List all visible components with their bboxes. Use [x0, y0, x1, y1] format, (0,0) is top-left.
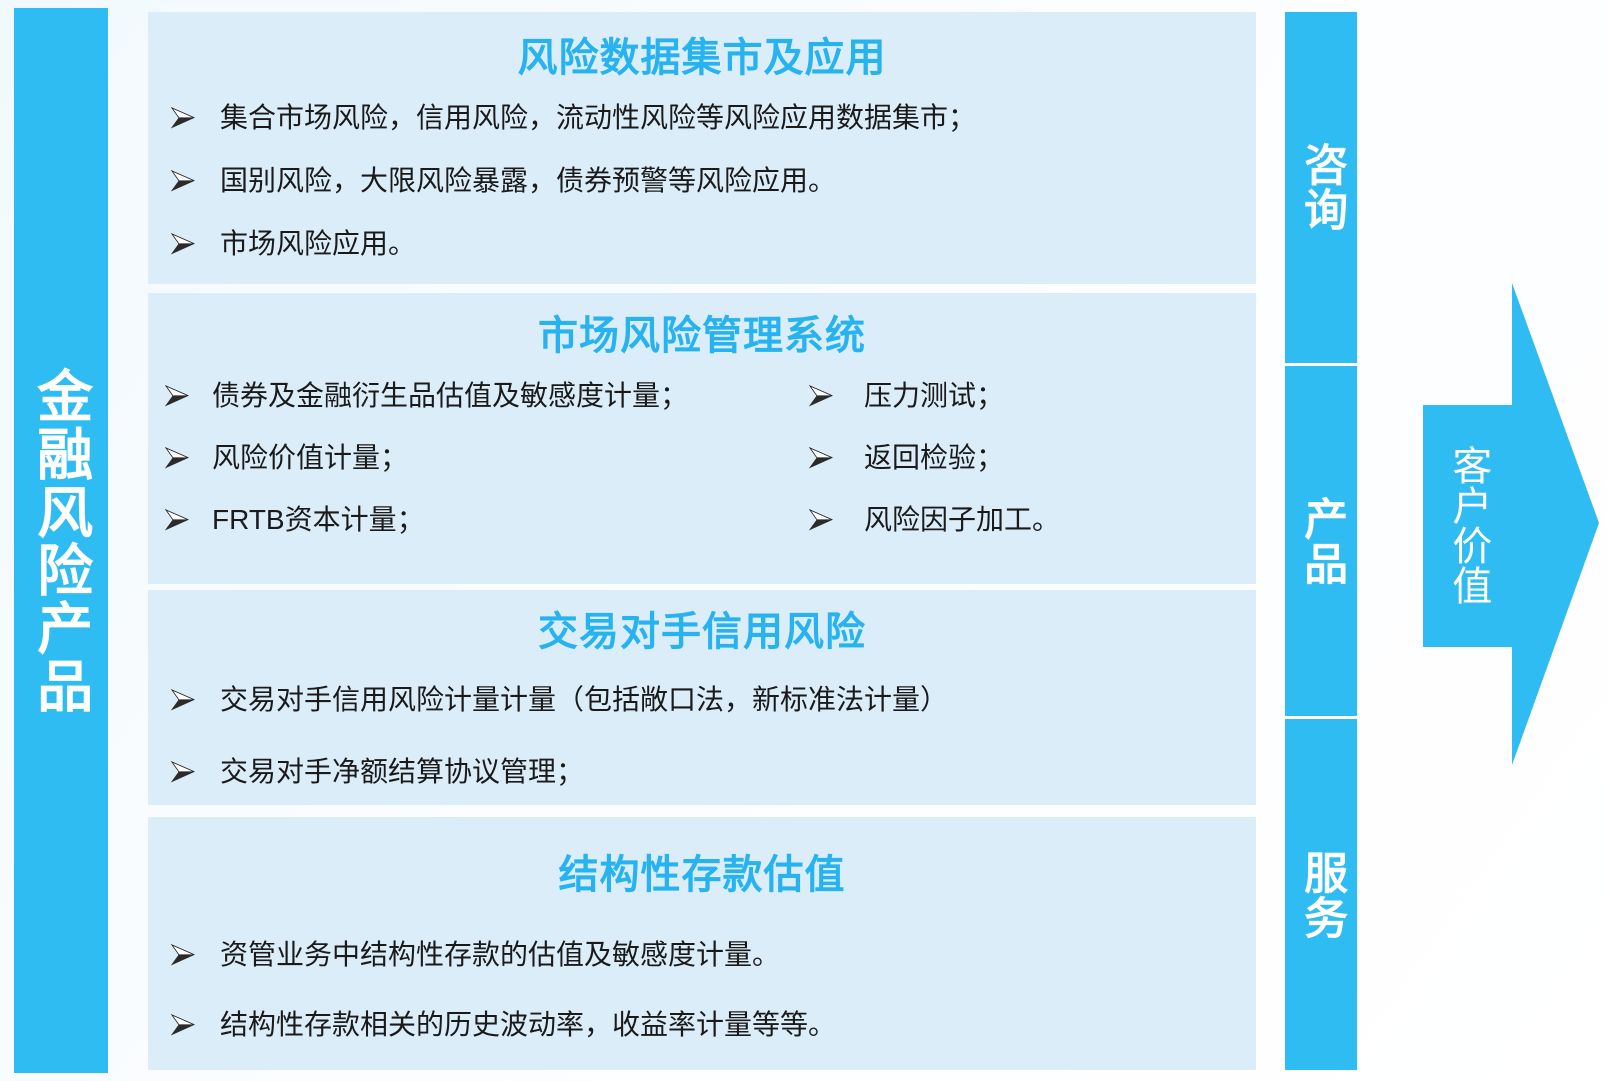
panel-counterparty-credit-risk: 交易对手信用风险 交易对手信用风险计量计量（包括敞口法，新标准法计量） — [148, 590, 1256, 805]
bullet-list-market-risk-left: 债券及金融衍生品估值及敏感度计量； 风险价值计量； — [154, 382, 754, 568]
list-item: FRTB资本计量； — [154, 506, 754, 534]
arrow-bullet-icon — [754, 506, 864, 531]
arrow-bullet-icon — [154, 230, 220, 255]
list-item-label: 债券及金融衍生品估值及敏感度计量； — [212, 382, 754, 410]
offering-stage-column: 咨询 产品 服务 — [1285, 12, 1357, 1070]
bullet-list-structured-deposit-valuation: 资管业务中结构性存款的估值及敏感度计量。 结构性存款相关的历史波动率，收益率计量… — [154, 941, 1250, 1039]
panel-risk-data-mart: 风险数据集市及应用 集合市场风险，信用风险，流动性风险等风险应用数据集市； — [148, 12, 1256, 284]
arrow-bullet-icon — [754, 382, 864, 407]
panel-title-structured-deposit-valuation: 结构性存款估值 — [154, 817, 1250, 895]
list-item-label: 交易对手信用风险计量计量（包括敞口法，新标准法计量） — [220, 686, 1250, 714]
arrow-bullet-icon — [154, 758, 220, 783]
stage-label-consulting: 咨询 — [1298, 142, 1344, 232]
list-item-label: 风险因子加工。 — [864, 506, 1250, 534]
product-category-label: 金融风险产品 — [31, 367, 90, 715]
panel-divider — [148, 805, 1256, 817]
customer-value-arrow — [1420, 275, 1602, 775]
list-item-label: FRTB资本计量； — [212, 506, 754, 534]
list-item: 结构性存款相关的历史波动率，收益率计量等等。 — [154, 1011, 1250, 1039]
list-item-label: 集合市场风险，信用风险，流动性风险等风险应用数据集市； — [220, 104, 1250, 132]
list-item-label: 交易对手净额结算协议管理； — [220, 758, 1250, 786]
list-item-label: 国别风险，大限风险暴露，债券预警等风险应用。 — [220, 167, 1250, 195]
list-item: 市场风险应用。 — [154, 230, 1250, 258]
panel-title-counterparty-credit-risk: 交易对手信用风险 — [154, 590, 1250, 652]
list-item: 风险价值计量； — [154, 444, 754, 472]
list-item-label: 压力测试； — [864, 382, 1250, 410]
right-arrow-icon — [1420, 275, 1602, 775]
list-item: 返回检验； — [754, 444, 1250, 472]
capability-panel-stack: 风险数据集市及应用 集合市场风险，信用风险，流动性风险等风险应用数据集市； — [148, 12, 1256, 1070]
product-category-bar: 金融风险产品 — [14, 8, 108, 1073]
arrow-bullet-icon — [154, 382, 212, 407]
bullet-list-risk-data-mart: 集合市场风险，信用风险，流动性风险等风险应用数据集市； 国别风险，大限风险暴露，… — [154, 104, 1250, 258]
list-item: 集合市场风险，信用风险，流动性风险等风险应用数据集市； — [154, 104, 1250, 132]
list-item: 风险因子加工。 — [754, 506, 1250, 534]
arrow-bullet-icon — [154, 444, 212, 469]
arrow-bullet-icon — [754, 444, 864, 469]
list-item-label: 风险价值计量； — [212, 444, 754, 472]
stage-block-service[interactable]: 服务 — [1285, 719, 1357, 1070]
bullet-list-market-risk-right: 压力测试； 返回检验； — [754, 382, 1250, 568]
stage-label-product: 产品 — [1298, 496, 1344, 586]
arrow-bullet-icon — [154, 686, 220, 711]
panel-market-risk-management-system: 市场风险管理系统 债券及金融衍生品估值及敏感度计量； — [148, 293, 1256, 584]
arrow-bullet-icon — [154, 941, 220, 966]
arrow-bullet-icon — [154, 167, 220, 192]
panel-title-market-risk-management-system: 市场风险管理系统 — [154, 293, 1250, 356]
list-item: 压力测试； — [754, 382, 1250, 410]
list-item-label: 市场风险应用。 — [220, 230, 1250, 258]
list-item-label: 资管业务中结构性存款的估值及敏感度计量。 — [220, 941, 1250, 969]
list-item: 国别风险，大限风险暴露，债券预警等风险应用。 — [154, 167, 1250, 195]
list-item: 资管业务中结构性存款的估值及敏感度计量。 — [154, 941, 1250, 969]
list-item-label: 返回检验； — [864, 444, 1250, 472]
bullet-list-counterparty-credit-risk: 交易对手信用风险计量计量（包括敞口法，新标准法计量） 交易对手净额结算协议管理； — [154, 686, 1250, 786]
stage-label-service: 服务 — [1298, 850, 1344, 940]
panel-divider — [148, 284, 1256, 293]
list-item: 债券及金融衍生品估值及敏感度计量； — [154, 382, 754, 410]
list-item: 交易对手净额结算协议管理； — [154, 758, 1250, 786]
list-item-label: 结构性存款相关的历史波动率，收益率计量等等。 — [220, 1011, 1250, 1039]
arrow-bullet-icon — [154, 104, 220, 129]
stage-block-product[interactable]: 产品 — [1285, 366, 1357, 720]
stage-block-consulting[interactable]: 咨询 — [1285, 12, 1357, 366]
panel-structured-deposit-valuation: 结构性存款估值 资管业务中结构性存款的估值及敏感度计量。 — [148, 817, 1256, 1070]
bullet-columns-market-risk: 债券及金融衍生品估值及敏感度计量； 风险价值计量； — [154, 382, 1250, 568]
arrow-bullet-icon — [154, 506, 212, 531]
list-item: 交易对手信用风险计量计量（包括敞口法，新标准法计量） — [154, 686, 1250, 714]
panel-title-risk-data-mart: 风险数据集市及应用 — [154, 12, 1250, 78]
arrow-bullet-icon — [154, 1011, 220, 1036]
